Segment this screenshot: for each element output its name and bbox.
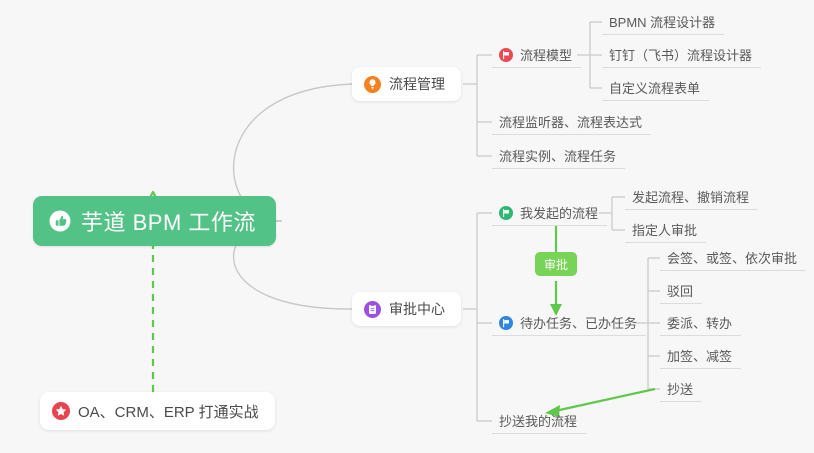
flag-red-icon	[499, 48, 513, 62]
node-label: 指定人审批	[632, 220, 697, 239]
clipboard-purple-icon	[364, 301, 381, 318]
node-countersign[interactable]: 会签、或签、依次审批	[660, 245, 806, 271]
node-dingtalk-feishu-designer[interactable]: 钉钉（飞书）流程设计器	[602, 42, 761, 68]
node-label: 自定义流程表单	[609, 78, 700, 97]
node-my-initiated[interactable]: 我发起的流程	[492, 200, 607, 226]
node-cc-to-me[interactable]: 抄送我的流程	[492, 408, 586, 434]
node-label: 待办任务、已办任务	[520, 313, 637, 332]
node-add-remove-sign[interactable]: 加签、减签	[660, 343, 741, 369]
branch-label: 审批中心	[389, 299, 445, 319]
flag-green-icon	[499, 206, 513, 220]
node-bpmn-designer[interactable]: BPMN 流程设计器	[602, 9, 724, 35]
node-reject[interactable]: 驳回	[660, 278, 702, 304]
node-label: 钉钉（飞书）流程设计器	[609, 45, 752, 64]
branch-process-management[interactable]: 流程管理	[352, 67, 461, 101]
node-label: 委派、转办	[667, 313, 732, 332]
node-instance-task[interactable]: 流程实例、流程任务	[492, 143, 625, 169]
root-label: 芋道 BPM 工作流	[81, 205, 256, 237]
thumbs-up-icon	[49, 210, 71, 232]
node-delegate-transfer[interactable]: 委派、转办	[660, 310, 741, 336]
mindmap-canvas: 芋道 BPM 工作流 流程管理 流程模型 BPMN 流程设计器 钉钉（飞书）流程	[0, 0, 814, 453]
node-label: 流程实例、流程任务	[499, 146, 616, 165]
branch-approval-center[interactable]: 审批中心	[352, 292, 461, 326]
node-process-model[interactable]: 流程模型	[492, 42, 581, 68]
node-listener-expression[interactable]: 流程监听器、流程表达式	[492, 109, 651, 135]
node-label: 抄送	[667, 379, 693, 398]
node-label: 发起流程、撤销流程	[632, 187, 749, 206]
node-label: 流程监听器、流程表达式	[499, 112, 642, 131]
node-custom-form[interactable]: 自定义流程表单	[602, 75, 709, 101]
approval-flow-badge: 审批	[535, 252, 577, 276]
node-label: 抄送我的流程	[499, 411, 577, 430]
bottom-note-node[interactable]: OA、CRM、ERP 打通实战	[40, 392, 275, 430]
node-label: 我发起的流程	[520, 203, 598, 222]
star-red-icon	[52, 402, 70, 420]
node-label: 会签、或签、依次审批	[667, 248, 797, 267]
node-label: 流程模型	[520, 45, 572, 64]
root-node[interactable]: 芋道 BPM 工作流	[33, 196, 276, 246]
node-todo-done-tasks[interactable]: 待办任务、已办任务	[492, 310, 646, 336]
node-label: 驳回	[667, 281, 693, 300]
branch-label: 流程管理	[389, 74, 445, 94]
bottom-note-label: OA、CRM、ERP 打通实战	[78, 401, 259, 422]
node-label: BPMN 流程设计器	[609, 12, 715, 31]
badge-label: 审批	[544, 256, 568, 273]
node-assignee-approval[interactable]: 指定人审批	[625, 217, 706, 243]
node-label: 加签、减签	[667, 346, 732, 365]
lightbulb-icon	[364, 76, 381, 93]
flag-blue-icon	[499, 316, 513, 330]
node-cc[interactable]: 抄送	[660, 376, 702, 402]
node-start-cancel-process[interactable]: 发起流程、撤销流程	[625, 184, 758, 210]
